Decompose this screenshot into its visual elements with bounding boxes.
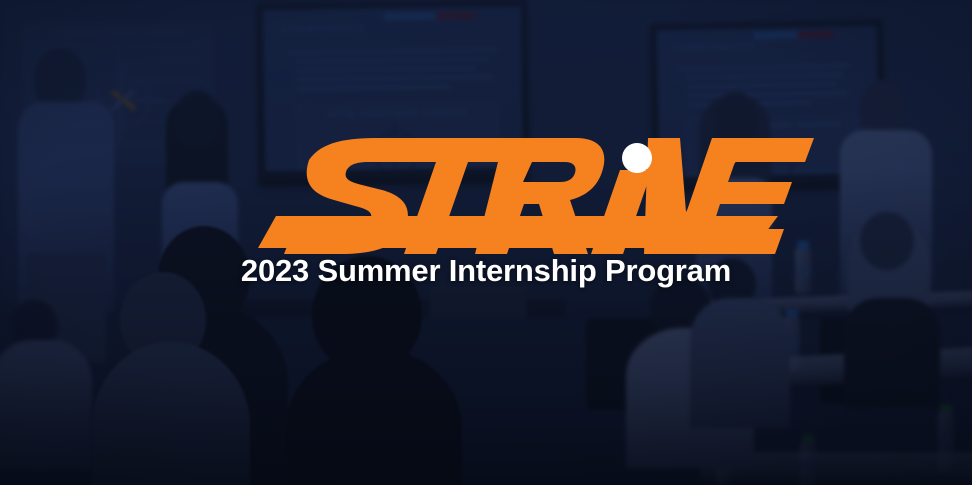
logo-swoosh-bar xyxy=(258,212,778,252)
subtitle: 2023 Summer Internship Program xyxy=(0,253,972,289)
logo-layer: 2023 Summer Internship Program xyxy=(0,0,972,485)
swoosh-shape xyxy=(258,216,778,248)
strive-banner: APTIM COMMITMENT COMPASS COMMITMENTS xyxy=(0,0,972,485)
